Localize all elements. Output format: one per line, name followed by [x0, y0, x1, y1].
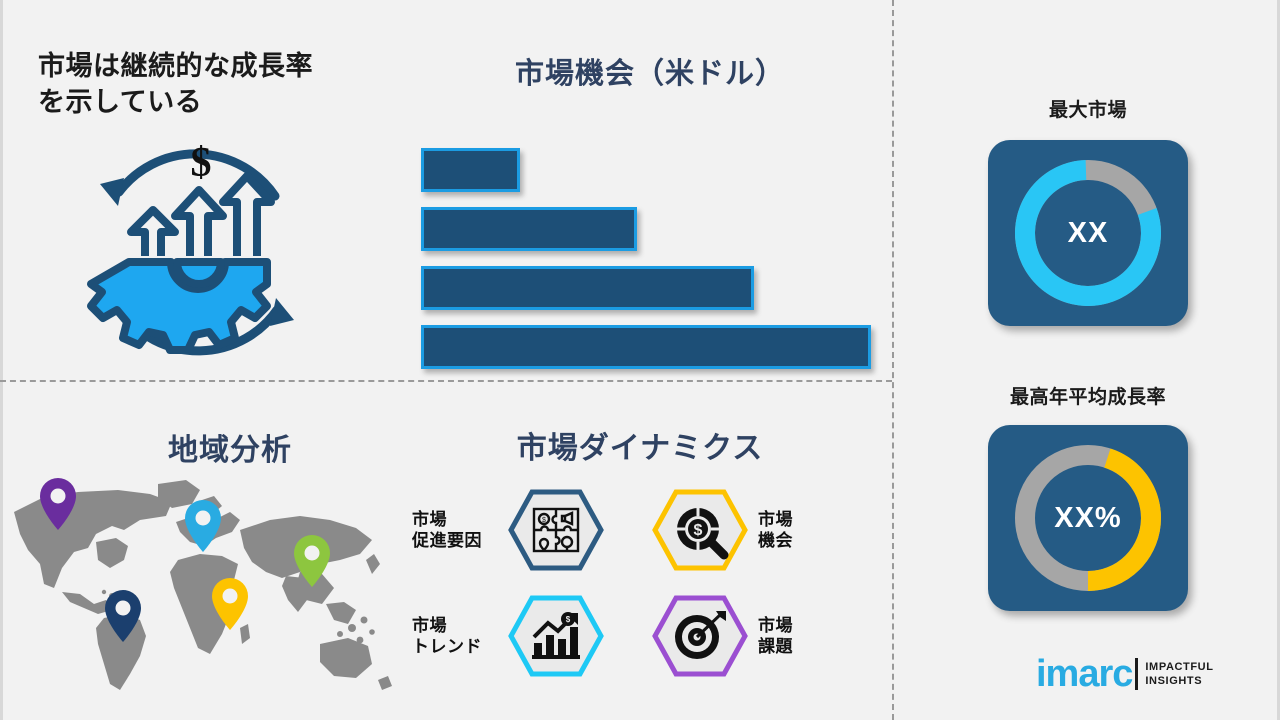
dynamics-item-opportunity[interactable]: $ 市場 機会: [652, 489, 793, 571]
dynamics-panel-title: 市場ダイナミクス: [420, 423, 860, 467]
svg-text:$: $: [566, 615, 571, 624]
donut-2-title: 最高年平均成長率: [948, 382, 1228, 409]
slide-canvas: 市場は継続的な成長率 を示している $ 市場機会（米ドル）: [0, 0, 1280, 720]
bar-row: [421, 207, 871, 251]
bar-row: [421, 148, 871, 192]
dynamics-item-trends[interactable]: 市場 トレンド $: [412, 595, 604, 677]
logo-tagline: IMPACTFUL INSIGHTS: [1145, 660, 1213, 689]
growth-panel-title: 市場は継続的な成長率 を示している: [38, 48, 378, 121]
svg-text:$: $: [542, 517, 546, 524]
growth-bar-chart-icon: $: [508, 595, 604, 677]
dynamics-item-challenges-label: 市場 課題: [758, 615, 793, 658]
world-map: [0, 468, 400, 696]
opportunity-panel-title: 市場機会（米ドル）: [420, 50, 880, 92]
dollar-symbol: $: [191, 140, 212, 186]
donut-1-title: 最大市場: [948, 95, 1228, 122]
dynamics-item-opportunity-label: 市場 機会: [758, 509, 793, 552]
svg-text:$: $: [694, 522, 703, 539]
pin-east-asia: [294, 535, 330, 587]
horizontal-divider: [0, 380, 892, 382]
dynamics-item-drivers[interactable]: 市場 促進要因 $: [412, 489, 604, 571]
target-dart-icon: [652, 595, 748, 677]
opportunity-bar-chart: [421, 148, 871, 348]
donut-1-card: XX: [988, 140, 1188, 326]
pin-africa: [212, 578, 248, 630]
region-panel-title: 地域分析: [95, 425, 365, 469]
bar-row: [421, 266, 871, 310]
bar-2: [421, 207, 637, 251]
donut-2-center-value: XX%: [988, 425, 1188, 611]
bar-row: [421, 325, 871, 369]
dynamics-item-drivers-label: 市場 促進要因: [412, 509, 498, 552]
logo-wordmark: imarc: [1036, 655, 1132, 693]
dynamics-item-challenges[interactable]: 市場 課題: [652, 595, 793, 677]
bar-3: [421, 266, 754, 310]
puzzle-pieces-icon: $: [508, 489, 604, 571]
bar-4: [421, 325, 871, 369]
donut-1-center-value: XX: [988, 140, 1188, 326]
pin-europe: [185, 500, 221, 552]
magnifier-dollar-icon: $: [652, 489, 748, 571]
growth-cycle-gear-icon: $: [72, 134, 322, 366]
donut-2-card: XX%: [988, 425, 1188, 611]
pin-north-america: [40, 478, 76, 530]
logo-divider: [1135, 658, 1138, 690]
vertical-divider: [892, 0, 894, 720]
dynamics-item-trends-label: 市場 トレンド: [412, 615, 498, 658]
bar-1: [421, 148, 520, 192]
imarc-logo: imarc IMPACTFUL INSIGHTS: [1036, 655, 1214, 693]
pin-south-america: [105, 590, 141, 642]
